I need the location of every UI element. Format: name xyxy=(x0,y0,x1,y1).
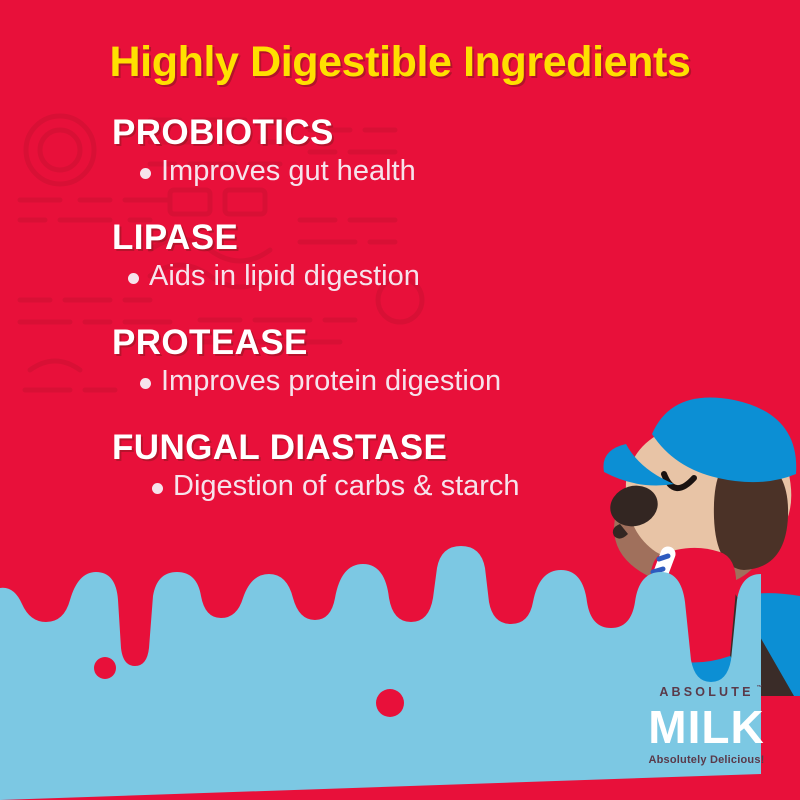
ingredient-description-row: Aids in lipid digestion xyxy=(0,258,660,296)
ingredient-description: Digestion of carbs & starch xyxy=(173,468,520,506)
ingredient-list: PROBIOTICS Improves gut health LIPASE Ai… xyxy=(0,112,660,512)
list-item: FUNGAL DIASTASE Digestion of carbs & sta… xyxy=(0,427,660,506)
ingredient-description-row: Improves gut health xyxy=(0,153,660,191)
logo-tagline: Absolutely Delicious! xyxy=(624,754,789,766)
ingredient-description: Improves protein digestion xyxy=(161,363,501,401)
ingredient-description-row: Digestion of carbs & starch xyxy=(0,468,660,506)
brand-logo: ABSOLUTE™ MILK Absolutely Delicious! xyxy=(624,683,789,766)
list-item: LIPASE Aids in lipid digestion xyxy=(0,217,660,296)
poster-title: Highly Digestible Ingredients xyxy=(0,38,800,87)
ingredient-description: Aids in lipid digestion xyxy=(149,258,420,296)
bullet-icon xyxy=(140,378,151,389)
list-item: PROBIOTICS Improves gut health xyxy=(0,112,660,191)
bullet-icon xyxy=(152,483,163,494)
ingredient-description: Improves gut health xyxy=(161,153,416,191)
logo-brand-top-text: ABSOLUTE xyxy=(659,685,753,699)
trademark-icon: ™ xyxy=(757,685,763,691)
logo-brand-main: MILK xyxy=(624,704,789,751)
bullet-icon xyxy=(128,273,139,284)
list-item: PROTEASE Improves protein digestion xyxy=(0,322,660,401)
ingredient-description-row: Improves protein digestion xyxy=(0,363,660,401)
ingredient-name: FUNGAL DIASTASE xyxy=(0,427,660,468)
ingredient-name: LIPASE xyxy=(0,217,660,258)
poster-canvas: Highly Digestible Ingredients PROBIOTICS… xyxy=(0,0,800,800)
ingredient-name: PROBIOTICS xyxy=(0,112,660,153)
bullet-icon xyxy=(140,168,151,179)
logo-brand-top: ABSOLUTE™ xyxy=(659,686,753,699)
ingredient-name: PROTEASE xyxy=(0,322,660,363)
